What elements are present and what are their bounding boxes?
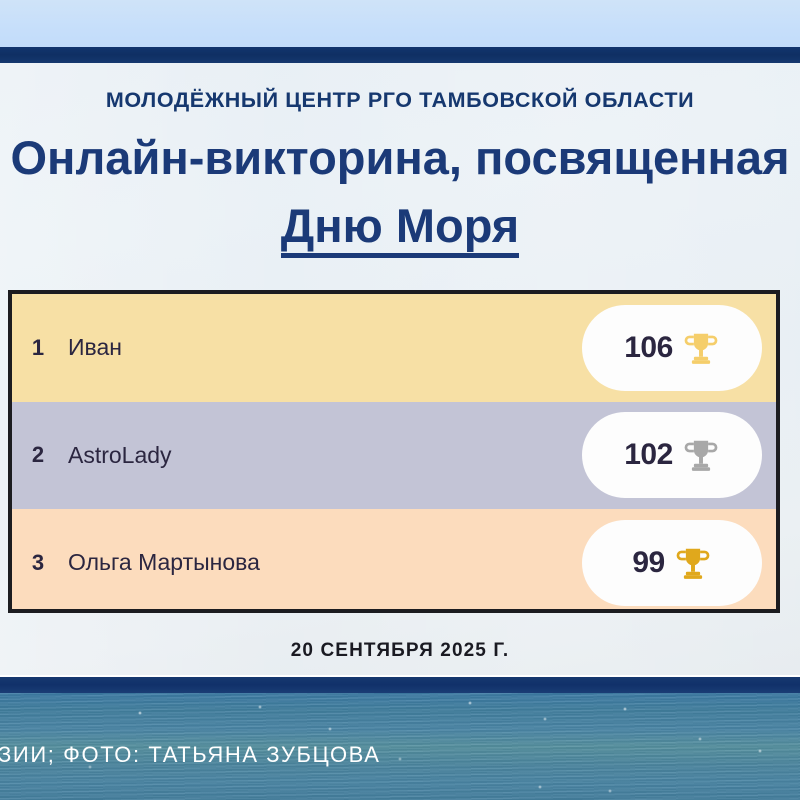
navy-divider-bottom [0,677,800,693]
score-value: 106 [624,331,673,365]
page-title-line2-wrap: Дню Моря [0,202,800,251]
participant-name: Ольга Мартынова [58,549,582,576]
trophy-silver-icon [682,436,720,474]
score-badge: 99 [582,520,762,606]
page-title-line2: Дню Моря [281,199,519,258]
sky-background-band [0,0,800,47]
participant-name: Иван [58,334,582,361]
navy-divider-top [0,47,800,63]
leaderboard-panel: 1 Иван 106 2 AstroLady 102 [8,290,780,613]
participant-name: AstroLady [58,442,582,469]
rank-number: 1 [12,335,58,361]
photo-credit: АЗИИ; ФОТО: ТАТЬЯНА ЗУБЦОВА [0,742,380,768]
table-row[interactable]: 3 Ольга Мартынова 99 [12,509,776,613]
score-value: 99 [632,546,664,580]
score-value: 102 [624,438,673,472]
rank-number: 2 [12,442,58,468]
rank-number: 3 [12,550,58,576]
table-row[interactable]: 2 AstroLady 102 [12,402,776,510]
score-badge: 106 [582,305,762,391]
poster-canvas: МОЛОДЁЖНЫЙ ЦЕНТР РГО ТАМБОВСКОЙ ОБЛАСТИ … [0,0,800,800]
organization-name: МОЛОДЁЖНЫЙ ЦЕНТР РГО ТАМБОВСКОЙ ОБЛАСТИ [0,88,800,113]
table-row[interactable]: 1 Иван 106 [12,294,776,402]
score-badge: 102 [582,412,762,498]
page-title-line1: Онлайн-викторина, посвященная [0,134,800,183]
event-date: 20 СЕНТЯБРЯ 2025 Г. [0,640,800,662]
trophy-bronze-icon [674,544,712,582]
trophy-gold-icon [682,329,720,367]
